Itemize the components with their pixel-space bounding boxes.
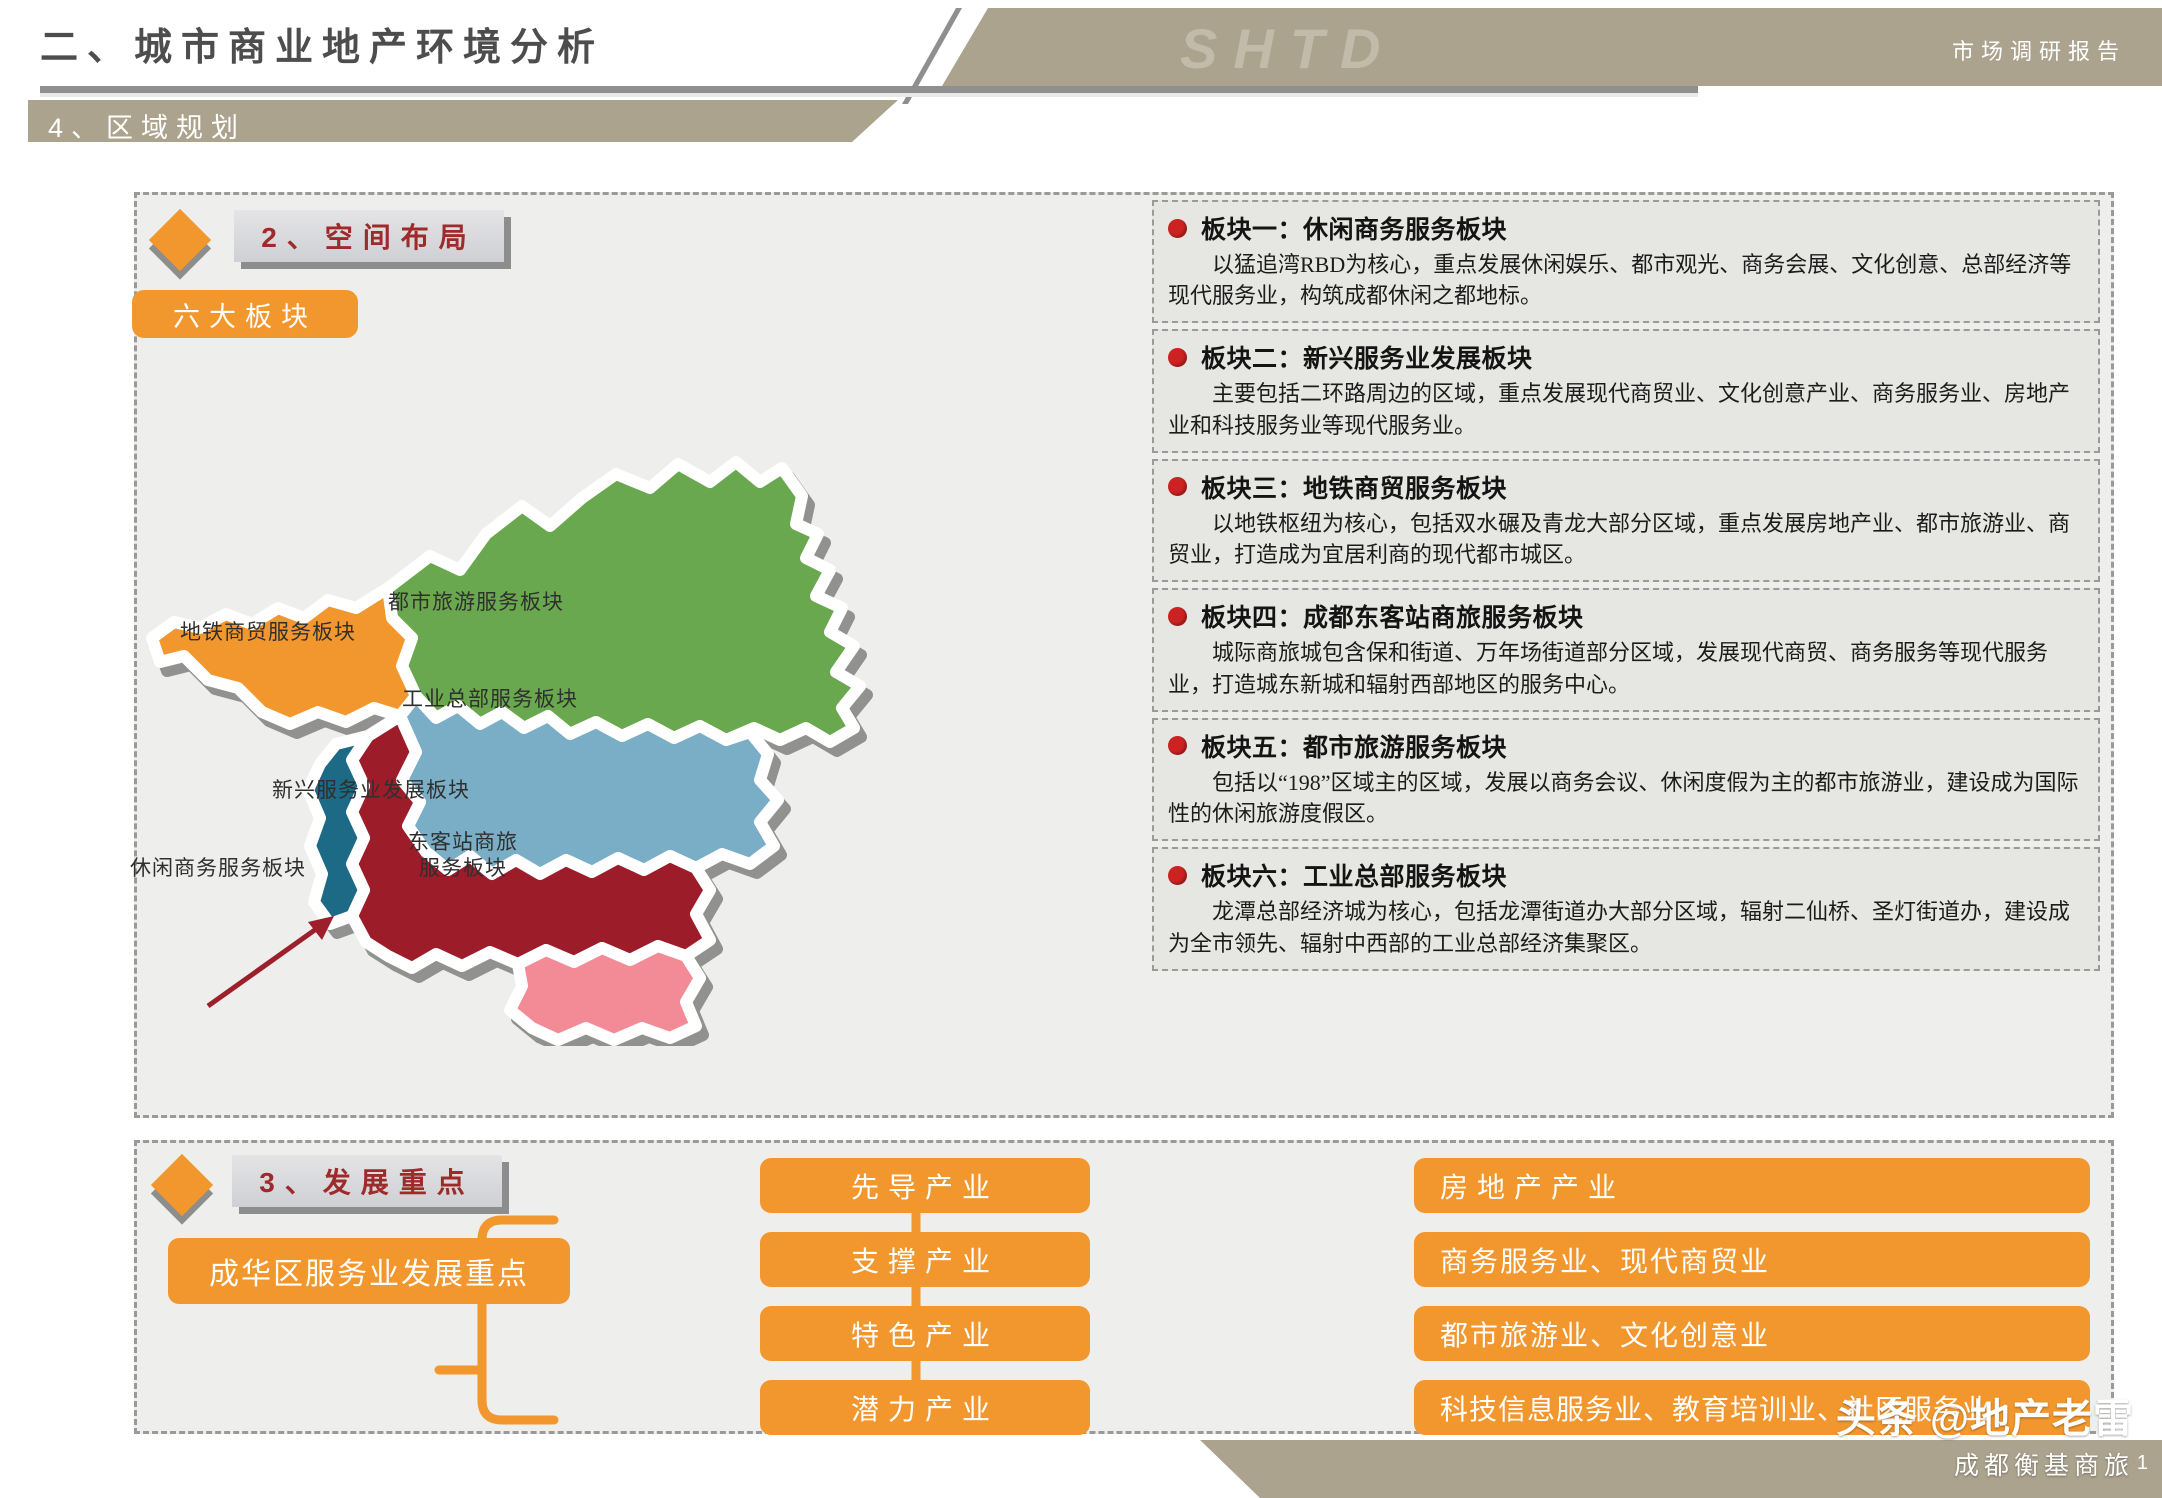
focus-category-label: 特色产业 <box>851 1314 999 1354</box>
focus-category-label: 潜力产业 <box>851 1388 999 1428</box>
map-region-metro-trade <box>152 588 416 724</box>
block-title: 板块四：成都东客站商旅服务板块 <box>1201 598 1584 634</box>
block-item: 板块三：地铁商贸服务板块 以地铁枢纽为核心，包括双水碾及青龙大部分区域，重点发展… <box>1152 459 2100 582</box>
focus-category-label: 先导产业 <box>851 1166 999 1206</box>
map-region-leisure-business <box>308 736 368 924</box>
block-header: 板块六：工业总部服务板块 <box>1168 857 2084 893</box>
block-title: 板块三：地铁商贸服务板块 <box>1201 469 1507 505</box>
watermark-line2: 成都衡基商旅 <box>1836 1446 2134 1482</box>
map-label-industrial-hq: 工业总部服务板块 <box>402 683 578 713</box>
map-label-east-station-line1: 东客站商旅服务板块 <box>398 830 528 883</box>
block-body: 包括以“198”区域主的区域，发展以商务会议、休闲度假为主的都市旅游业，建设成为… <box>1168 767 2084 829</box>
map-label-tourism: 都市旅游服务板块 <box>388 586 564 616</box>
six-blocks-badge: 六大板块 <box>132 290 358 338</box>
focus-category-box: 先导产业 <box>760 1158 1090 1213</box>
bullet-dot-icon <box>1168 866 1187 885</box>
focus-category-label: 支撑产业 <box>851 1240 999 1280</box>
block-header: 板块五：都市旅游服务板块 <box>1168 728 2084 764</box>
bullet-dot-icon <box>1168 607 1187 626</box>
block-item: 板块五：都市旅游服务板块 包括以“198”区域主的区域，发展以商务会议、休闲度假… <box>1152 718 2100 841</box>
map-region-east-station <box>510 946 700 1040</box>
bullet-dot-icon <box>1168 736 1187 755</box>
brand-logo-text: SHTD <box>1180 16 1396 81</box>
header-rule-dark <box>40 86 1698 93</box>
focus-industry-label: 都市旅游业、文化创意业 <box>1440 1314 1770 1354</box>
block-header: 板块一：休闲商务服务板块 <box>1168 210 2084 246</box>
block-header: 板块三：地铁商贸服务板块 <box>1168 469 2084 505</box>
focus-title-label: 3、发展重点 <box>259 1161 475 1201</box>
watermark-line1: 头条 @地产老雷 <box>1836 1386 2134 1444</box>
block-header: 板块二：新兴服务业发展板块 <box>1168 339 2084 375</box>
focus-industry-box: 商务服务业、现代商贸业 <box>1414 1232 2090 1287</box>
focus-industry-label: 商务服务业、现代商贸业 <box>1440 1240 1770 1280</box>
focus-root-label: 成华区服务业发展重点 <box>209 1249 529 1293</box>
header-rule-light <box>40 93 1698 97</box>
map-label-emerging: 新兴服务业发展板块 <box>272 774 470 804</box>
block-item: 板块六：工业总部服务板块 龙潭总部经济城为核心，包括龙潭街道办大部分区域，辐射二… <box>1152 847 2100 970</box>
block-body: 以地铁枢纽为核心，包括双水碾及青龙大部分区域，重点发展房地产业、都市旅游业、商贸… <box>1168 508 2084 570</box>
map-column: 2、空间布局 六大板块 <box>140 196 1140 1108</box>
bullet-dot-icon <box>1168 348 1187 367</box>
footer-cut <box>0 1440 1260 1498</box>
six-blocks-badge-label: 六大板块 <box>173 295 317 334</box>
page-header: 二、城市商业地产环境分析 SHTD 市场调研报告 <box>0 0 2162 96</box>
focus-root-box: 成华区服务业发展重点 <box>168 1238 570 1304</box>
block-item: 板块四：成都东客站商旅服务板块 城际商旅城包含保和街道、万年场街道部分区域，发展… <box>1152 588 2100 711</box>
block-item: 板块二：新兴服务业发展板块 主要包括二环路周边的区域，重点发展现代商贸业、文化创… <box>1152 329 2100 452</box>
block-description-list: 板块一：休闲商务服务板块 以猛追湾RBD为核心，重点发展休闲娱乐、都市观光、商务… <box>1152 200 2100 1104</box>
map-label-east-station: 东客站商旅服务板块 <box>398 830 528 883</box>
block-title: 板块一：休闲商务服务板块 <box>1201 210 1507 246</box>
spatial-title-plate: 2、空间布局 <box>234 210 504 262</box>
focus-title-plate: 3、发展重点 <box>232 1155 502 1207</box>
bullet-dot-icon <box>1168 477 1187 496</box>
focus-industry-label: 房地产产业 <box>1440 1166 1625 1206</box>
focus-category-box: 支撑产业 <box>760 1232 1090 1287</box>
bullet-dot-icon <box>1168 219 1187 238</box>
block-item: 板块一：休闲商务服务板块 以猛追湾RBD为核心，重点发展休闲娱乐、都市观光、商务… <box>1152 200 2100 323</box>
focus-category-box: 特色产业 <box>760 1306 1090 1361</box>
block-body: 主要包括二环路周边的区域，重点发展现代商贸业、文化创意产业、商务服务业、房地产业… <box>1168 378 2084 440</box>
focus-industry-box: 房地产产业 <box>1414 1158 2090 1213</box>
map-label-metro-trade: 地铁商贸服务板块 <box>180 616 356 646</box>
block-body: 以猛追湾RBD为核心，重点发展休闲娱乐、都市观光、商务会展、文化创意、总部经济等… <box>1168 249 2084 311</box>
spatial-title-label: 2、空间布局 <box>261 216 477 256</box>
focus-category-box: 潜力产业 <box>760 1380 1090 1435</box>
map-label-leisure-callout: 休闲商务服务板块 <box>130 852 306 882</box>
chenghua-district-map <box>130 356 1130 1046</box>
diamond-bullet-icon <box>149 209 211 271</box>
focus-industry-box: 都市旅游业、文化创意业 <box>1414 1306 2090 1361</box>
page-number: 1 <box>2137 1452 2148 1475</box>
block-body: 城际商旅城包含保和街道、万年场街道部分区域，发展现代商贸、商务服务等现代服务业，… <box>1168 637 2084 699</box>
block-header: 板块四：成都东客站商旅服务板块 <box>1168 598 2084 634</box>
header-report-label: 市场调研报告 <box>1952 34 2126 66</box>
block-title: 板块二：新兴服务业发展板块 <box>1201 339 1533 375</box>
block-title: 板块五：都市旅游服务板块 <box>1201 728 1507 764</box>
block-title: 板块六：工业总部服务板块 <box>1201 857 1507 893</box>
block-body: 龙潭总部经济城为核心，包括龙潭街道办大部分区域，辐射二仙桥、圣灯街道办，建设成为… <box>1168 896 2084 958</box>
watermark: 头条 @地产老雷 成都衡基商旅 <box>1836 1386 2134 1482</box>
page-title: 二、城市商业地产环境分析 <box>40 16 604 71</box>
section-bar-label: 4、区域规划 <box>48 106 246 145</box>
arrow-up-right-icon <box>208 916 334 1006</box>
